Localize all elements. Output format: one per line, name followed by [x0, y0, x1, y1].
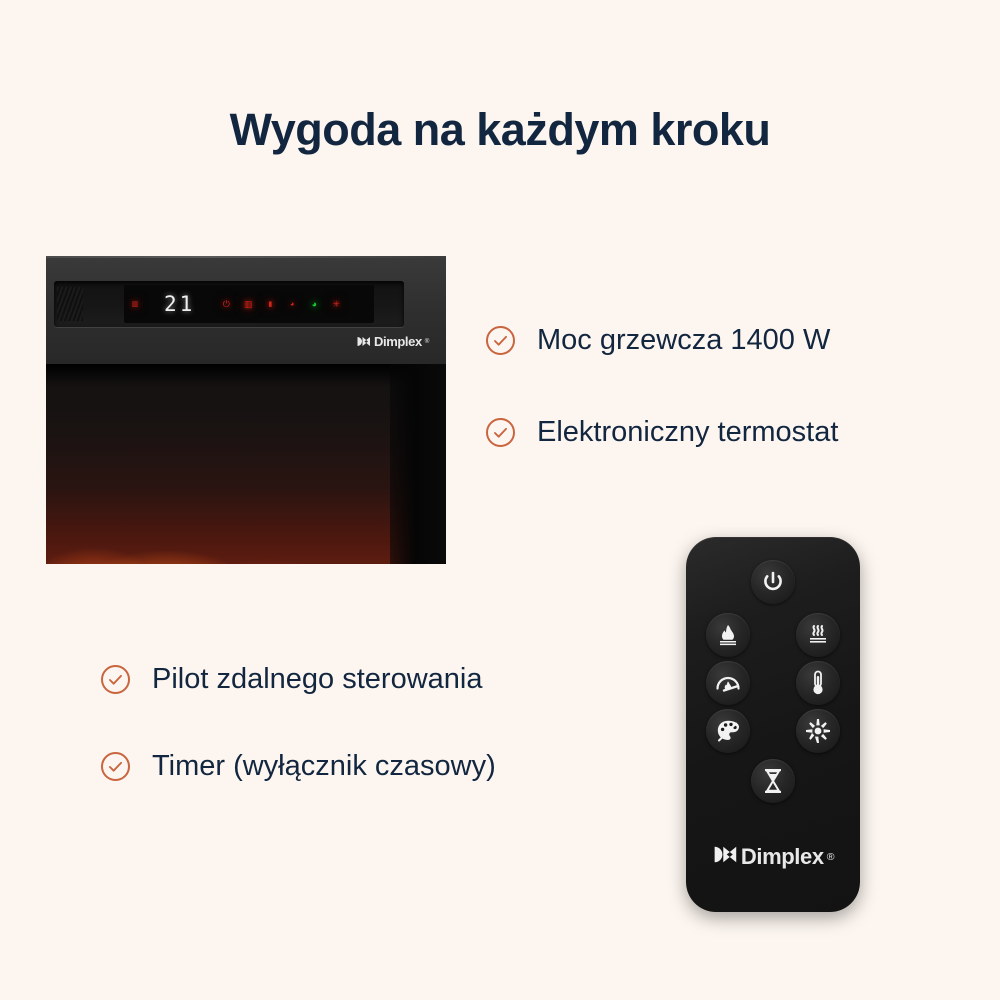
heat-waves-icon	[806, 624, 830, 646]
feature-label: Pilot zdalnego sterowania	[152, 663, 482, 696]
feature-item-remote-control: Pilot zdalnego sterowania	[101, 663, 482, 696]
display-temperature-value: 21	[164, 292, 195, 316]
feature-label: Timer (wyłącznik czasowy)	[152, 750, 496, 783]
feature-item-timer: Timer (wyłącznik czasowy)	[101, 750, 496, 783]
flame-color-button[interactable]	[706, 709, 750, 753]
heat-button[interactable]	[796, 613, 840, 657]
brightness-sun-icon	[805, 718, 831, 744]
brand-name: Dimplex	[374, 334, 422, 349]
fireplace-control-recess: ▥ 21 ⏻ ▥ ▮ ◕ ◕ ✳	[54, 281, 404, 327]
flame-speed-button[interactable]	[706, 661, 750, 705]
check-circle-icon	[101, 665, 130, 694]
flame-effect-button[interactable]	[706, 613, 750, 657]
heat-level-indicator-icon: ▥	[237, 300, 259, 309]
fireplace-right-shadow	[390, 364, 446, 564]
dimplex-mark-icon	[712, 844, 738, 870]
brightness-indicator-icon: ✳	[325, 300, 347, 309]
fireplace-brand-logo: Dimplex ®	[356, 334, 429, 349]
feature-item-thermostat: Elektroniczny termostat	[486, 416, 838, 449]
power-indicator-icon: ⏻	[215, 300, 237, 309]
temperature-button[interactable]	[796, 661, 840, 705]
brand-trademark: ®	[827, 851, 834, 863]
power-button[interactable]	[751, 560, 795, 604]
color-palette-icon	[716, 719, 741, 743]
timer-button[interactable]	[751, 759, 795, 803]
brightness-button[interactable]	[796, 709, 840, 753]
fireplace-top-bezel: ▥ 21 ⏻ ▥ ▮ ◕ ◕ ✳ Dimplex ®	[46, 256, 446, 364]
flame-speed-indicator-icon: ◕	[281, 301, 303, 308]
speed-gauge-flame-icon	[715, 672, 741, 694]
feature-label: Moc grzewcza 1400 W	[537, 324, 830, 357]
brand-trademark: ®	[425, 338, 429, 345]
feature-label: Elektroniczny termostat	[537, 416, 838, 449]
hourglass-icon	[763, 768, 783, 794]
fireplace-flame-glass	[46, 364, 446, 564]
feature-item-heating-power: Moc grzewcza 1400 W	[486, 324, 830, 357]
page-title: Wygoda na każdym kroku	[0, 104, 1000, 156]
check-circle-icon	[101, 752, 130, 781]
heater-indicator-left-icon: ▥	[124, 301, 146, 308]
thermometer-icon	[810, 670, 826, 696]
eco-flame-indicator-icon: ◕	[303, 300, 325, 309]
power-icon	[762, 571, 784, 594]
fireplace-led-display: ▥ 21 ⏻ ▥ ▮ ◕ ◕ ✳	[124, 285, 374, 323]
fireplace-product-image: ▥ 21 ⏻ ▥ ▮ ◕ ◕ ✳ Dimplex ®	[46, 256, 446, 564]
remote-brand-logo: Dimplex ®	[686, 844, 860, 870]
vent-grille	[57, 287, 83, 321]
brand-name: Dimplex	[741, 844, 824, 870]
remote-control: Dimplex ®	[686, 537, 860, 912]
check-circle-icon	[486, 418, 515, 447]
dimplex-mark-icon	[356, 336, 371, 347]
thermometer-indicator-icon: ▮	[259, 301, 281, 308]
flame-icon	[716, 624, 740, 646]
check-circle-icon	[486, 326, 515, 355]
